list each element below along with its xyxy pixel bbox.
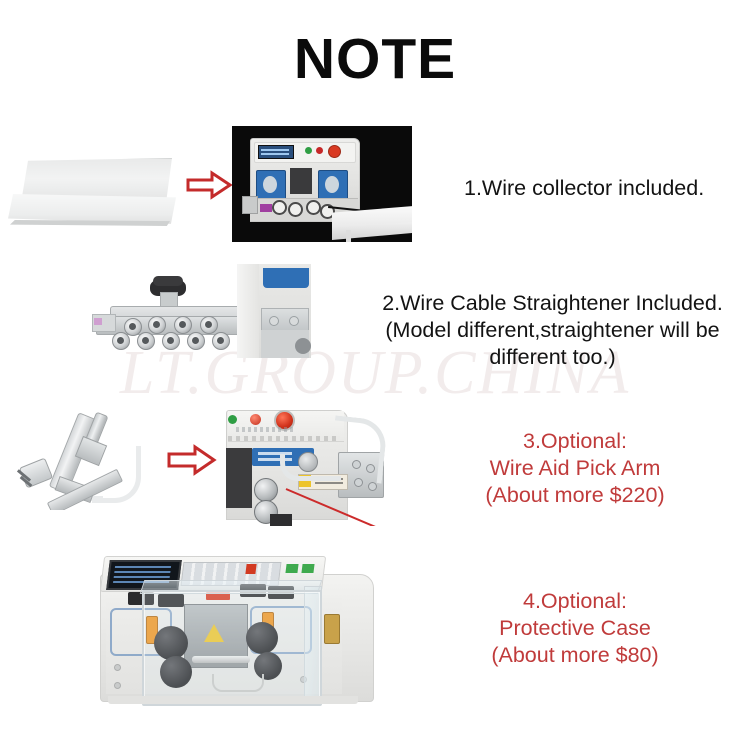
red-button-icon bbox=[316, 147, 323, 154]
cutting-head bbox=[290, 168, 312, 194]
page-title: NOTE bbox=[0, 26, 750, 92]
machine-with-pick-arm-image bbox=[226, 404, 416, 526]
feed-roller bbox=[306, 200, 321, 215]
right-arrow-icon-1 bbox=[186, 170, 232, 200]
red-button-icon bbox=[250, 414, 261, 425]
machine-foot bbox=[270, 514, 292, 526]
tray-support-leg bbox=[346, 230, 351, 242]
right-arrow-icon-3 bbox=[167, 444, 217, 476]
green-button-icon bbox=[228, 415, 237, 424]
green-key-icon bbox=[285, 564, 298, 573]
note-2-line-2: (Model different,straightener will be bbox=[355, 317, 750, 344]
emergency-stop-icon bbox=[328, 145, 341, 158]
note-2-line-1: 2.Wire Cable Straightener Included. bbox=[355, 290, 750, 317]
straightener-roller bbox=[187, 332, 205, 350]
note-2-line-3: different too.) bbox=[355, 344, 750, 371]
panel-column bbox=[237, 264, 259, 358]
note-1-line-1: 1.Wire collector included. bbox=[464, 175, 750, 202]
mount-screw bbox=[289, 316, 299, 326]
input-guide-arm bbox=[242, 196, 258, 214]
blue-decal bbox=[263, 268, 309, 288]
straightener-roller bbox=[212, 332, 230, 350]
straightener-roller bbox=[200, 316, 218, 334]
note-page: LT.GROUP.CHINA NOTE 1.Wire collector inc… bbox=[0, 0, 750, 750]
wire-aid-pick-arm-image bbox=[16, 412, 166, 510]
blue-module-left bbox=[256, 170, 286, 200]
straightener-roller bbox=[137, 332, 155, 350]
machine-side-panel-image bbox=[237, 264, 311, 358]
case-hinge bbox=[324, 614, 340, 644]
wire-collector-tray-image bbox=[8, 158, 176, 230]
blue-module-right bbox=[318, 170, 348, 200]
note-3-line-3: (About more $220) bbox=[400, 482, 750, 509]
feed-wheel bbox=[254, 478, 278, 502]
pneumatic-hose-lower bbox=[280, 454, 341, 481]
bracket-bolt bbox=[368, 482, 377, 491]
left-pin bbox=[94, 318, 102, 325]
green-key-icon bbox=[301, 564, 314, 573]
vent-slots bbox=[228, 436, 340, 441]
note-4-text: 4.Optional: Protective Case (About more … bbox=[400, 588, 750, 669]
panel-label-text bbox=[236, 427, 296, 432]
straightener-roller bbox=[112, 332, 130, 350]
straightener-roller bbox=[162, 332, 180, 350]
straightener-roller bbox=[148, 316, 166, 334]
feed-roller bbox=[272, 200, 287, 215]
note-4-line-3: (About more $80) bbox=[400, 642, 750, 669]
left-dark-module bbox=[226, 448, 252, 508]
wire-stripping-machine-image bbox=[232, 126, 412, 242]
note-3-line-1: 3.Optional: bbox=[400, 428, 750, 455]
note-4-line-2: Protective Case bbox=[400, 615, 750, 642]
note-3-text: 3.Optional: Wire Aid Pick Arm (About mor… bbox=[400, 428, 750, 509]
note-2-text: 2.Wire Cable Straightener Included. (Mod… bbox=[355, 290, 750, 371]
feed-roller bbox=[288, 202, 303, 217]
machine-lcd-screen bbox=[258, 145, 294, 159]
machine-base-plinth bbox=[108, 696, 358, 704]
panel-screw bbox=[114, 664, 121, 671]
red-key-icon bbox=[245, 564, 256, 574]
green-button-icon bbox=[305, 147, 312, 154]
machine-with-protective-case-image bbox=[100, 556, 400, 721]
note-1-text: 1.Wire collector included. bbox=[464, 175, 750, 202]
mount-screw bbox=[269, 316, 279, 326]
round-port bbox=[295, 338, 311, 354]
panel-screw bbox=[114, 682, 121, 689]
purple-part bbox=[260, 204, 272, 212]
straightener-roller bbox=[174, 316, 192, 334]
note-4-line-1: 4.Optional: bbox=[400, 588, 750, 615]
note-3-line-2: Wire Aid Pick Arm bbox=[400, 455, 750, 482]
protective-case-front bbox=[142, 590, 322, 706]
